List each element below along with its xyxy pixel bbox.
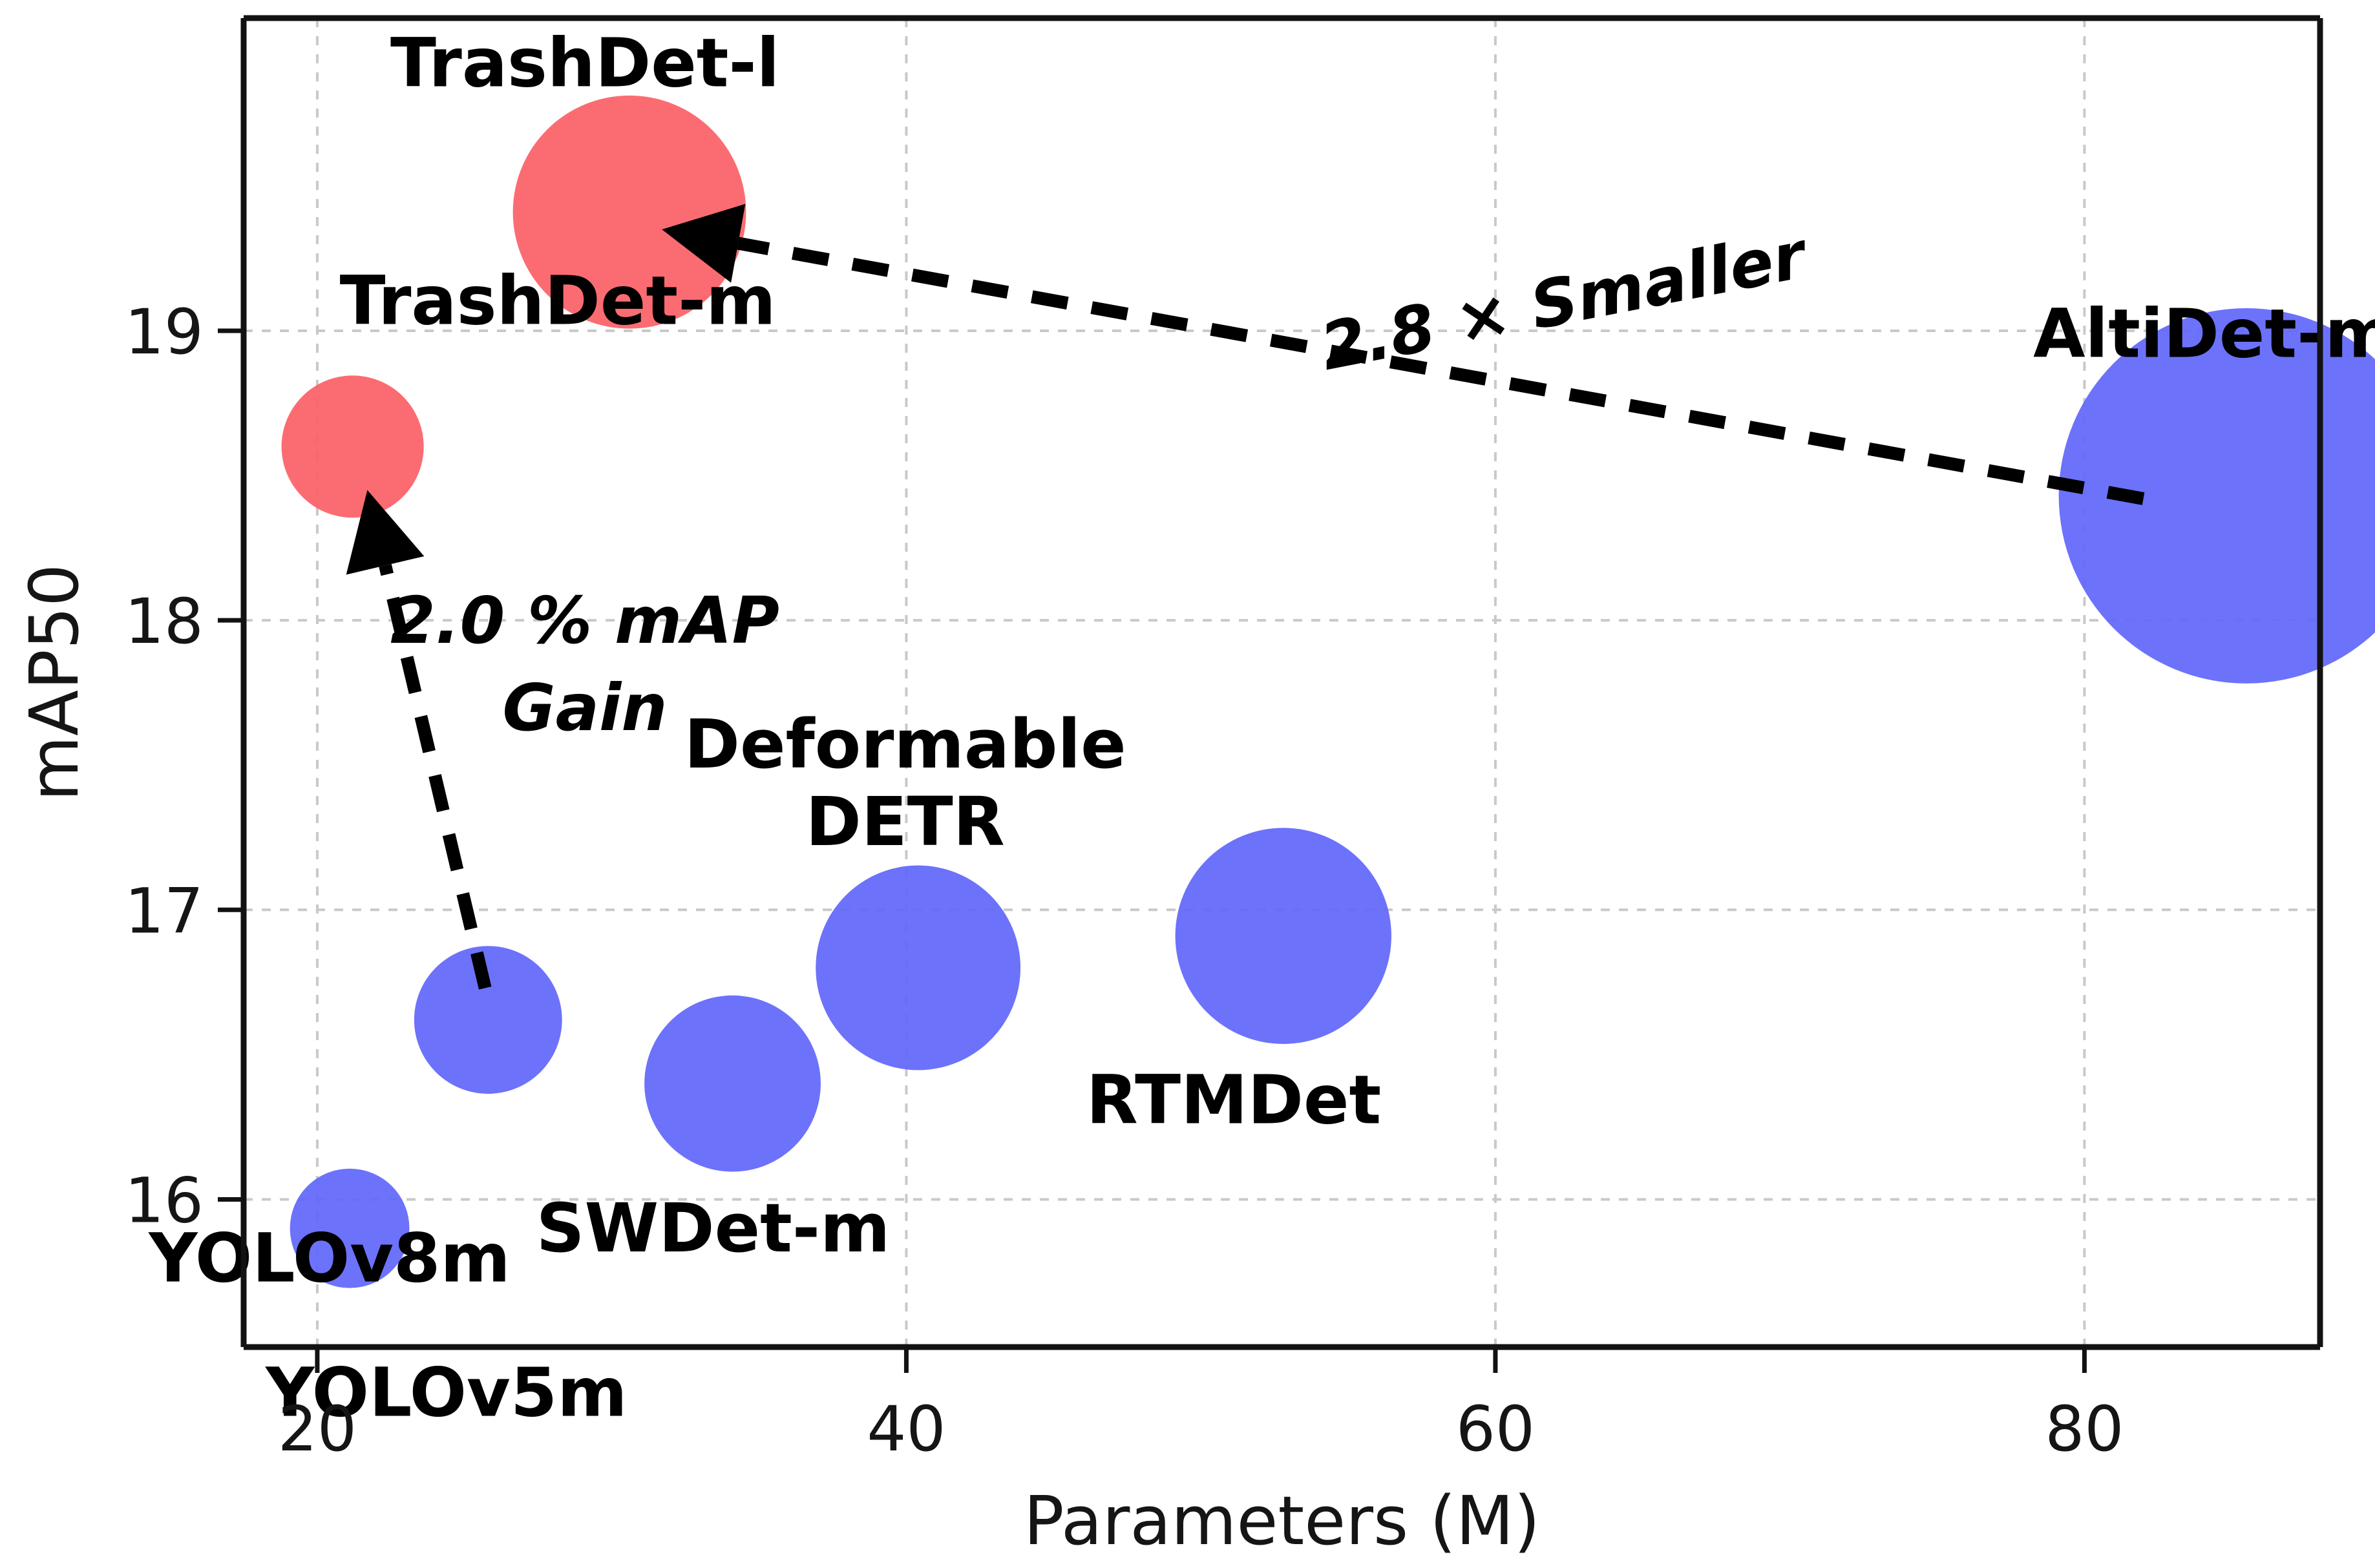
- y-tick-label: 19: [125, 296, 204, 368]
- point-label: SWDet-m: [536, 1189, 891, 1268]
- y-tick-label: 16: [125, 1164, 204, 1237]
- bubble-trashdet-m[interactable]: [282, 375, 424, 517]
- x-tick-label: 40: [867, 1393, 945, 1465]
- point-label: TrashDet-m: [340, 261, 776, 340]
- point-label: TrashDet-l: [390, 23, 779, 102]
- x-tick-label: 80: [2045, 1393, 2124, 1465]
- y-tick-label: 17: [125, 875, 204, 947]
- point-label: AltiDet-m: [2033, 294, 2375, 373]
- map-gain-annotation-text: 2.0 % mAP: [390, 583, 779, 658]
- bubble-swdet-m[interactable]: [644, 996, 821, 1172]
- bubble-rtmdet[interactable]: [1176, 828, 1391, 1043]
- bubble-scatter-chart: TrashDet-lTrashDet-mAltiDet-mRTMDetDefor…: [0, 0, 2375, 1568]
- x-tick-label: 20: [278, 1393, 357, 1465]
- map-gain-annotation-text: Gain: [502, 670, 667, 746]
- bubble-deformable-detr[interactable]: [816, 866, 1020, 1071]
- bubble-yolov8m[interactable]: [414, 946, 562, 1094]
- y-axis-title: mAP50: [15, 564, 94, 802]
- point-label: DETR: [805, 782, 1004, 861]
- y-tick-label: 18: [125, 585, 204, 658]
- x-axis-title: Parameters (M): [1024, 1481, 1540, 1560]
- scatter-chart-figure: TrashDet-lTrashDet-mAltiDet-mRTMDetDefor…: [0, 0, 2375, 1568]
- point-label: Deformable: [684, 705, 1126, 784]
- chart-background: [0, 0, 2375, 1568]
- x-tick-label: 60: [1456, 1393, 1535, 1465]
- point-label: RTMDet: [1086, 1061, 1381, 1140]
